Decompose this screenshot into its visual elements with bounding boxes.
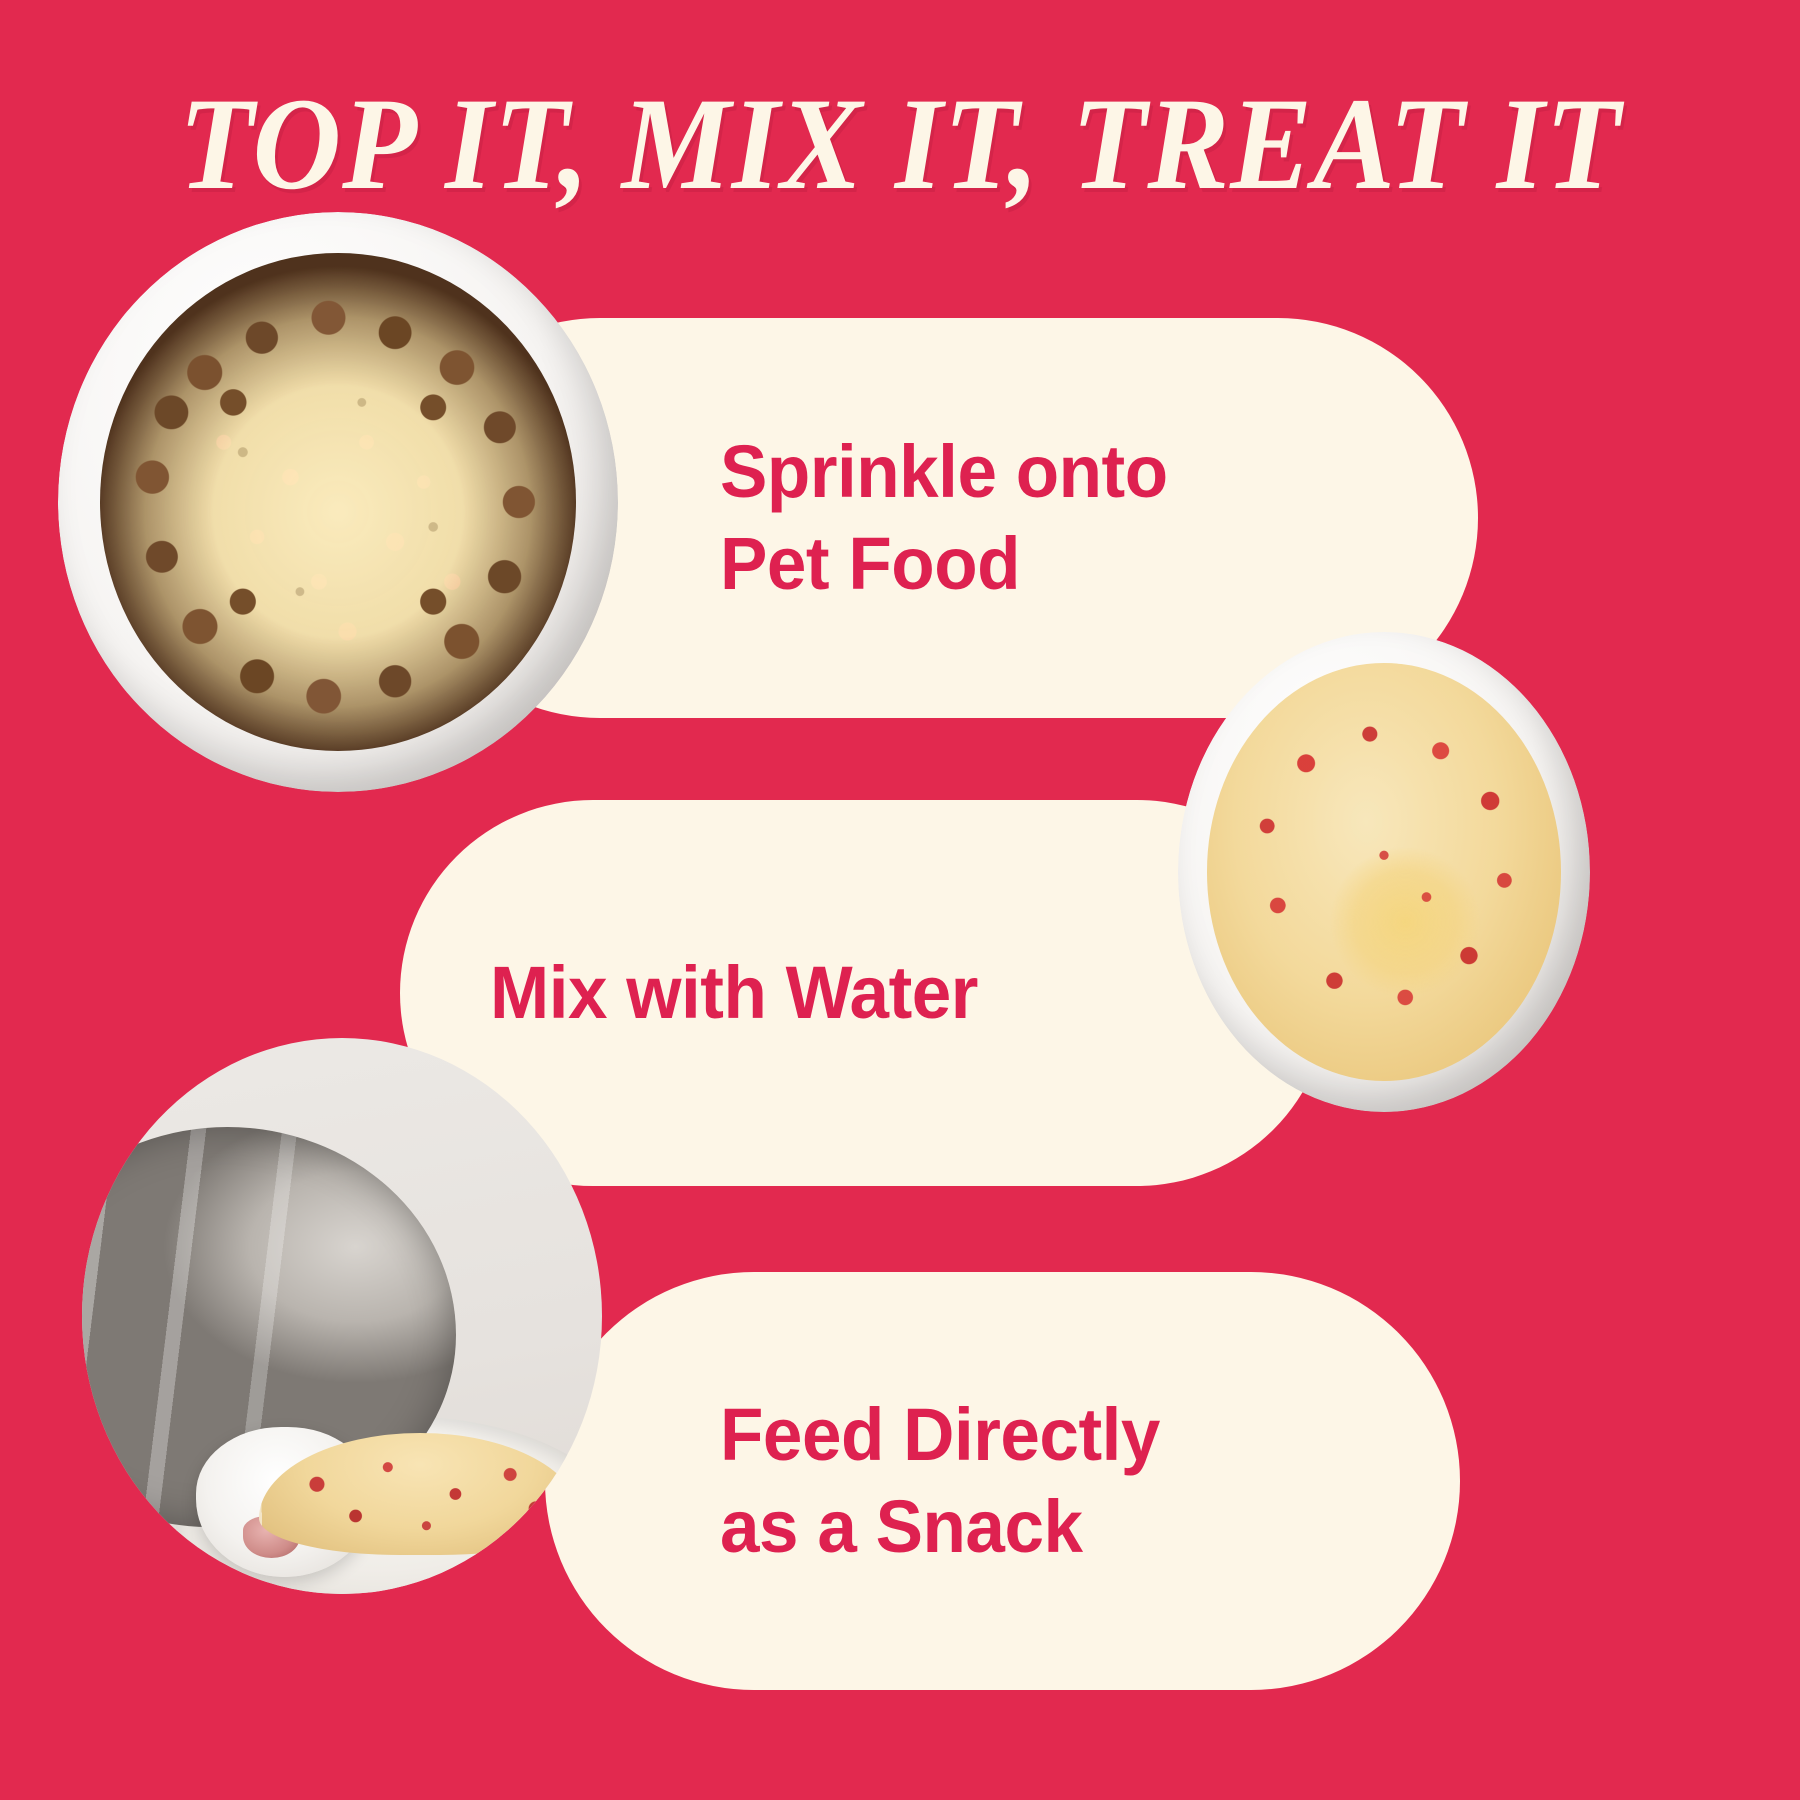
broth-contents [1207, 663, 1561, 1081]
photo-bowl-of-kibble [58, 212, 618, 792]
photo-bowl-of-broth [1178, 632, 1590, 1112]
page-title: TOP IT, MIX IT, TREAT IT [63, 78, 1737, 210]
photo-cat-eating [82, 1038, 602, 1594]
step-label-feed: Feed Directly as a Snack [720, 1389, 1160, 1573]
step-pill-feed: Feed Directly as a Snack [545, 1272, 1460, 1690]
step-label-sprinkle: Sprinkle onto Pet Food [720, 426, 1168, 610]
step-label-mix: Mix with Water [490, 947, 978, 1039]
kibble-contents [100, 253, 576, 752]
infographic-canvas: TOP IT, MIX IT, TREAT IT Sprinkle onto P… [0, 0, 1800, 1800]
